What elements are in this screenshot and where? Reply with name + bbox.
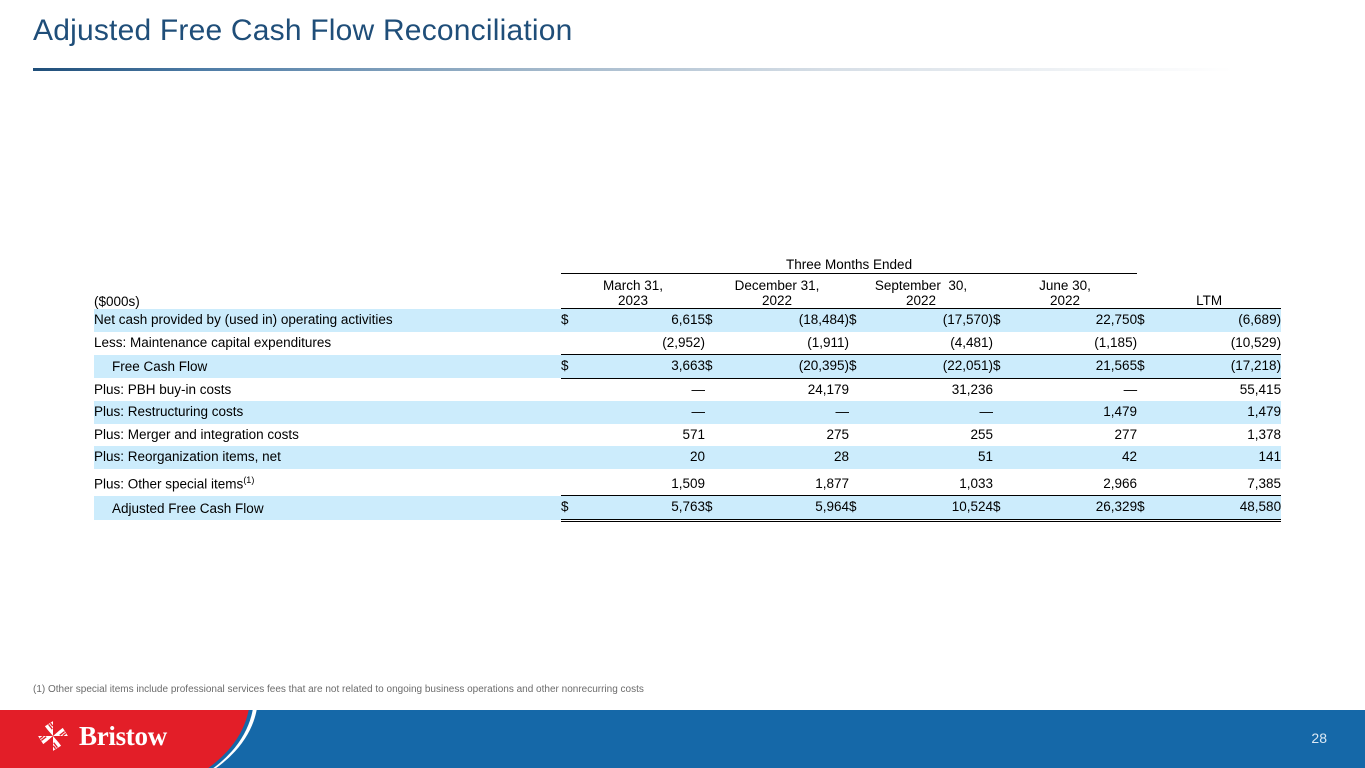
column-header-3: September 30,2022 — [849, 274, 993, 309]
table-cell-value: 48,580 — [1159, 496, 1281, 521]
column-header-line1: December 31, — [705, 278, 849, 293]
table-cell-value: 571 — [583, 424, 705, 447]
footnote-marker: (1) — [243, 475, 254, 485]
table-row: Plus: Merger and integration costs571275… — [94, 424, 1281, 447]
currency-symbol-cell — [561, 446, 583, 469]
table-cell-value: 1,378 — [1159, 424, 1281, 447]
currency-symbol-cell — [993, 378, 1015, 401]
currency-symbol-cell: $ — [1137, 309, 1159, 332]
currency-symbol-cell — [1137, 332, 1159, 355]
financial-table-container: Three Months Ended ($000s) March 31,2023… — [94, 252, 1274, 522]
currency-symbol-cell — [849, 424, 871, 447]
currency-symbol-cell — [993, 469, 1015, 496]
row-label: Free Cash Flow — [94, 355, 561, 379]
currency-symbol-cell — [993, 332, 1015, 355]
currency-symbol-cell: $ — [849, 309, 871, 332]
currency-symbol-cell: $ — [1137, 355, 1159, 379]
table-row: Plus: PBH buy-in costs—24,17931,236—55,4… — [94, 378, 1281, 401]
table-cell-value: — — [583, 401, 705, 424]
table-cell-value: 10,524 — [871, 496, 993, 521]
table-cell-value: (2,952) — [583, 332, 705, 355]
currency-symbol-cell — [993, 424, 1015, 447]
currency-symbol-cell: $ — [993, 496, 1015, 521]
currency-symbol-cell: $ — [849, 496, 871, 521]
column-header-line2: 2023 — [561, 293, 705, 308]
table-cell-value: 3,663 — [583, 355, 705, 379]
table-cell-value: (20,395) — [727, 355, 849, 379]
column-header-line1: March 31, — [561, 278, 705, 293]
table-cell-value: (17,570) — [871, 309, 993, 332]
column-header-line2: 2022 — [849, 293, 993, 308]
column-header-line1: June 30, — [993, 278, 1137, 293]
table-row: Net cash provided by (used in) operating… — [94, 309, 1281, 332]
table-cell-value: 31,236 — [871, 378, 993, 401]
currency-symbol-cell — [1137, 401, 1159, 424]
currency-symbol-cell — [993, 401, 1015, 424]
table-cell-value: 1,479 — [1159, 401, 1281, 424]
page-title: Adjusted Free Cash Flow Reconciliation — [33, 14, 573, 48]
table-cell-value: — — [1015, 378, 1137, 401]
currency-symbol-cell — [561, 469, 583, 496]
column-header-line1: September 30, — [849, 278, 993, 293]
currency-symbol-cell: $ — [705, 355, 727, 379]
table-row: Less: Maintenance capital expenditures(2… — [94, 332, 1281, 355]
slide-footer — [0, 710, 1365, 768]
table-row: Plus: Restructuring costs———1,4791,479 — [94, 401, 1281, 424]
table-cell-value: 1,509 — [583, 469, 705, 496]
currency-symbol-cell — [561, 332, 583, 355]
table-row: Free Cash Flow$3,663$(20,395)$(22,051)$2… — [94, 355, 1281, 379]
currency-symbol-cell: $ — [561, 309, 583, 332]
currency-symbol-cell — [705, 378, 727, 401]
table-cell-value: 1,033 — [871, 469, 993, 496]
table-cell-value: 7,385 — [1159, 469, 1281, 496]
table-cell-value: (17,218) — [1159, 355, 1281, 379]
table-cell-value: 51 — [871, 446, 993, 469]
table-cell-value: 24,179 — [727, 378, 849, 401]
group-header-spacer — [94, 252, 561, 272]
currency-symbol-cell — [705, 424, 727, 447]
table-cell-value: (4,481) — [871, 332, 993, 355]
group-header-row: Three Months Ended — [94, 252, 1281, 272]
table-cell-value: 26,329 — [1015, 496, 1137, 521]
currency-symbol-cell — [705, 332, 727, 355]
table-cell-value: 1,479 — [1015, 401, 1137, 424]
table-cell-value: 141 — [1159, 446, 1281, 469]
currency-symbol-cell — [1137, 378, 1159, 401]
currency-symbol-cell: $ — [993, 309, 1015, 332]
brand-logo: Bristow — [36, 719, 167, 753]
row-label: Plus: Reorganization items, net — [94, 446, 561, 469]
table-cell-value: 20 — [583, 446, 705, 469]
currency-symbol-cell — [1137, 446, 1159, 469]
column-header-1: March 31,2023 — [561, 274, 705, 309]
table-cell-value: 255 — [871, 424, 993, 447]
title-divider — [33, 68, 1233, 71]
row-label: Net cash provided by (used in) operating… — [94, 309, 561, 332]
page-number: 28 — [1311, 730, 1327, 746]
footnote-text: (1) Other special items include professi… — [33, 684, 644, 695]
group-header-trailing-spacer — [1137, 252, 1281, 272]
table-row: Adjusted Free Cash Flow$5,763$5,964$10,5… — [94, 496, 1281, 521]
column-header-row: ($000s) March 31,2023December 31,2022Sep… — [94, 274, 1281, 309]
currency-symbol-cell: $ — [993, 355, 1015, 379]
column-header-line2: 2022 — [705, 293, 849, 308]
table-cell-value: 2,966 — [1015, 469, 1137, 496]
table-cell-value: (1,911) — [727, 332, 849, 355]
table-cell-value: — — [583, 378, 705, 401]
currency-symbol-cell: $ — [705, 496, 727, 521]
table-cell-value: — — [871, 401, 993, 424]
column-header-5: LTM — [1137, 274, 1281, 309]
table-cell-value: (10,529) — [1159, 332, 1281, 355]
currency-symbol-cell — [849, 469, 871, 496]
table-cell-value: 5,964 — [727, 496, 849, 521]
row-label: Plus: Merger and integration costs — [94, 424, 561, 447]
currency-symbol-cell — [1137, 469, 1159, 496]
row-label: Adjusted Free Cash Flow — [94, 496, 561, 521]
currency-symbol-cell — [561, 378, 583, 401]
table-header: Three Months Ended ($000s) March 31,2023… — [94, 252, 1281, 309]
currency-symbol-cell: $ — [561, 496, 583, 521]
table-cell-value: 277 — [1015, 424, 1137, 447]
column-header-line2: 2022 — [993, 293, 1137, 308]
table-row: Plus: Other special items(1)1,5091,8771,… — [94, 469, 1281, 496]
table-cell-value: (18,484) — [727, 309, 849, 332]
table-cell-value: (6,689) — [1159, 309, 1281, 332]
table-cell-value: 275 — [727, 424, 849, 447]
currency-symbol-cell — [705, 446, 727, 469]
group-header-three-months-ended: Three Months Ended — [561, 252, 1137, 272]
currency-symbol-cell — [849, 446, 871, 469]
table-cell-value: 5,763 — [583, 496, 705, 521]
adjusted-free-cash-flow-table: Three Months Ended ($000s) March 31,2023… — [94, 252, 1281, 522]
row-label: Less: Maintenance capital expenditures — [94, 332, 561, 355]
table-cell-value: 55,415 — [1159, 378, 1281, 401]
table-cell-value: — — [727, 401, 849, 424]
column-header-line1: LTM — [1137, 293, 1281, 308]
currency-symbol-cell: $ — [561, 355, 583, 379]
currency-symbol-cell — [849, 401, 871, 424]
currency-symbol-cell — [561, 401, 583, 424]
currency-symbol-cell — [561, 424, 583, 447]
table-cell-value: 1,877 — [727, 469, 849, 496]
table-body: Net cash provided by (used in) operating… — [94, 309, 1281, 521]
bristow-pinwheel-logo-icon — [36, 719, 70, 753]
column-header-4: June 30,2022 — [993, 274, 1137, 309]
currency-symbol-cell — [849, 332, 871, 355]
table-cell-value: 21,565 — [1015, 355, 1137, 379]
table-cell-value: 22,750 — [1015, 309, 1137, 332]
row-label: Plus: Other special items(1) — [94, 469, 561, 496]
table-row: Plus: Reorganization items, net202851421… — [94, 446, 1281, 469]
currency-symbol-cell — [705, 401, 727, 424]
currency-symbol-cell — [993, 446, 1015, 469]
unit-label: ($000s) — [94, 274, 561, 309]
table-cell-value: 28 — [727, 446, 849, 469]
currency-symbol-cell: $ — [849, 355, 871, 379]
currency-symbol-cell — [1137, 424, 1159, 447]
table-cell-value: (22,051) — [871, 355, 993, 379]
currency-symbol-cell — [705, 469, 727, 496]
brand-name: Bristow — [79, 721, 167, 752]
column-header-2: December 31,2022 — [705, 274, 849, 309]
table-cell-value: (1,185) — [1015, 332, 1137, 355]
currency-symbol-cell: $ — [1137, 496, 1159, 521]
row-label: Plus: PBH buy-in costs — [94, 378, 561, 401]
row-label: Plus: Restructuring costs — [94, 401, 561, 424]
table-cell-value: 6,615 — [583, 309, 705, 332]
currency-symbol-cell: $ — [705, 309, 727, 332]
table-cell-value: 42 — [1015, 446, 1137, 469]
currency-symbol-cell — [849, 378, 871, 401]
